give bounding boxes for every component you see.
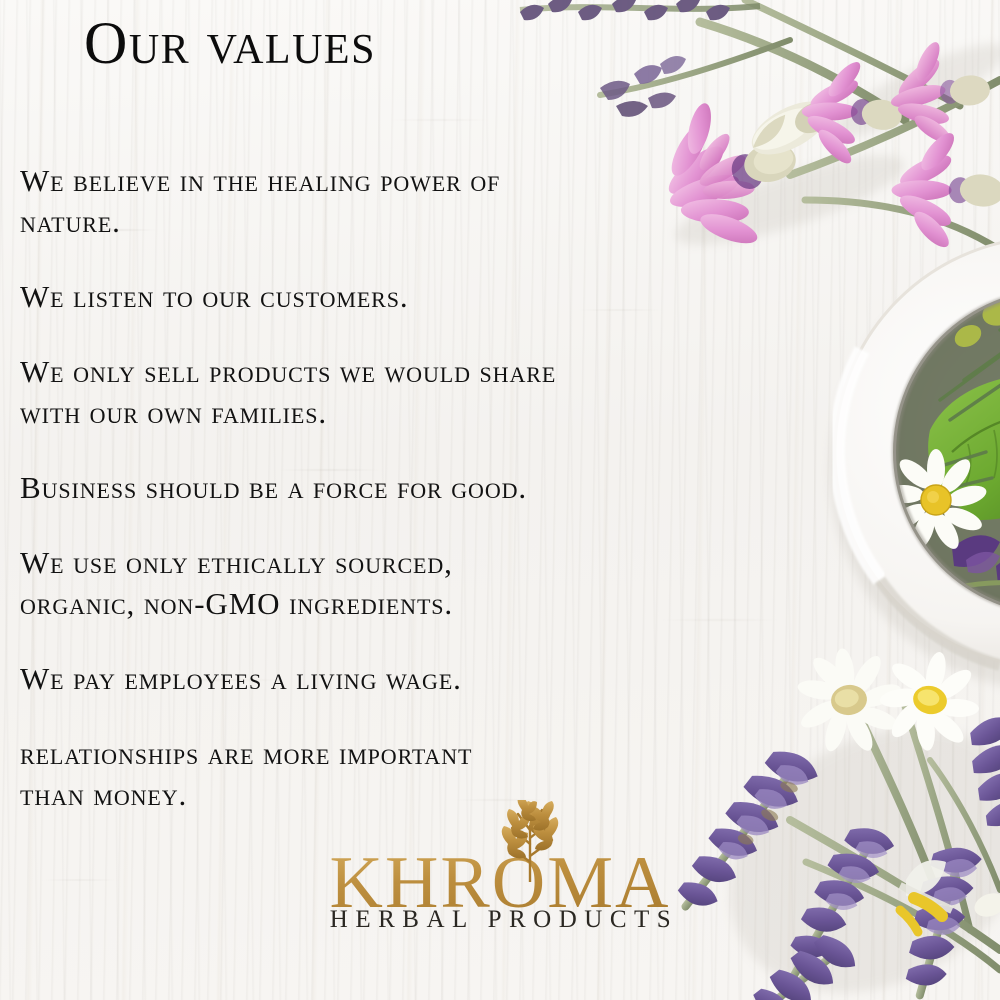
herb-sprig-icon <box>482 800 578 882</box>
brand-tagline: Herbal Products <box>322 906 678 934</box>
value-item-living-wage: We pay employees a living wage. <box>20 658 820 699</box>
lavender-spike-5 <box>739 926 860 1000</box>
poster-canvas: Our values We believe in the healing pow… <box>0 0 1000 1000</box>
value-item-relationships: relationships are more important than mo… <box>20 733 820 815</box>
value-item-force-for-good: Business should be a force for good. <box>20 467 820 508</box>
value-line-text: nature. <box>20 204 121 239</box>
brand-logo: Khroma Herbal Products <box>0 846 1000 934</box>
value-line-text: We listen to our customers. <box>20 279 409 314</box>
values-list: We believe in the healing power of natur… <box>20 160 820 849</box>
value-line-text: with our own families. <box>20 395 327 430</box>
value-line-text: We pay employees a living wage. <box>20 661 462 696</box>
value-line-text: relationships are more important <box>20 736 472 771</box>
chamomile-flower <box>884 449 989 553</box>
strawflower-e <box>885 123 1000 258</box>
strawflower-c <box>794 51 909 175</box>
value-line-text: We use only ethically sourced, <box>20 545 453 580</box>
daisy-flower-2 <box>868 641 990 762</box>
value-line-text: organic, non-GMO ingredients. <box>20 586 453 621</box>
value-item-share-with-families: We only sell products we would share wit… <box>20 351 820 433</box>
page-title: Our values <box>84 12 376 75</box>
mortar-bowl-with-herbs <box>830 237 1000 690</box>
value-item-listen-customers: We listen to our customers. <box>20 276 820 317</box>
strawflower-d <box>885 35 994 151</box>
lavender-spike-4 <box>967 715 1000 828</box>
value-item-ethically-sourced: We use only ethically sourced, organic, … <box>20 542 820 624</box>
value-item-healing-power: We believe in the healing power of natur… <box>20 160 820 242</box>
value-line-text: We only sell products we would share <box>20 354 556 389</box>
value-line-text: Business should be a force for good. <box>20 470 527 505</box>
value-line-text: than money. <box>20 777 187 812</box>
strawflower-bud <box>744 89 840 166</box>
value-line-text: We believe in the healing power of <box>20 163 500 198</box>
